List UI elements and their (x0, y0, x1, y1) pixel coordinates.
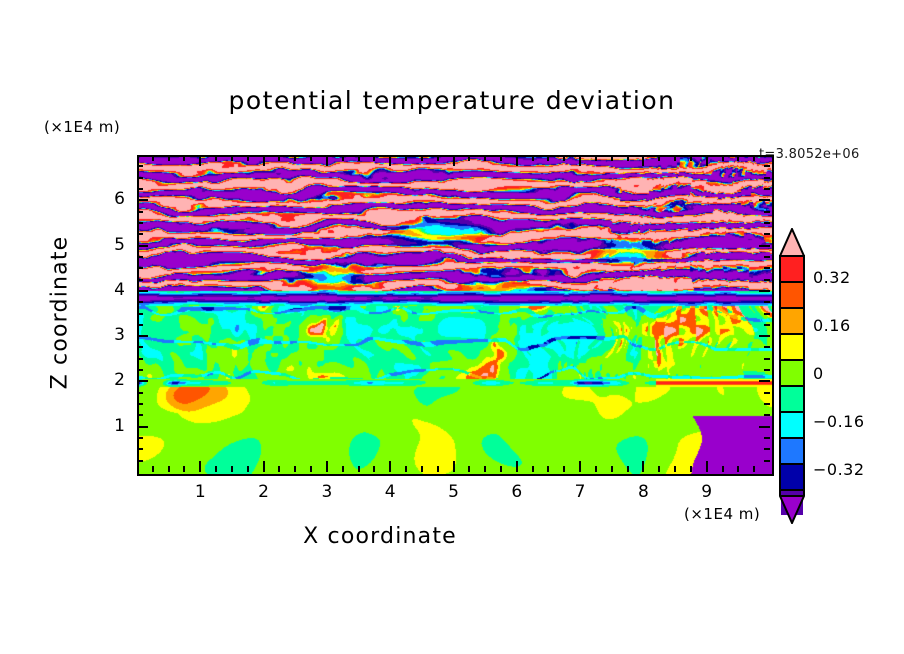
y-tick (137, 403, 143, 405)
x-tick (722, 155, 724, 161)
y-axis-unit-label: (×1E4 m) (44, 118, 120, 136)
timestamp-annotation: t=3.8052e+06 (759, 147, 860, 162)
y-tick (764, 346, 770, 348)
x-tick (294, 155, 296, 161)
y-tick (137, 313, 143, 315)
x-tick-label: 6 (502, 482, 532, 502)
y-tick-label: 3 (95, 325, 125, 345)
x-tick (358, 466, 360, 472)
x-tick (674, 466, 676, 472)
x-tick (278, 466, 280, 472)
x-tick (532, 155, 534, 161)
y-tick (764, 211, 770, 213)
colorbar-tick-label: −0.32 (813, 460, 865, 479)
y-tick (137, 233, 143, 235)
x-tick (152, 466, 154, 472)
y-tick (764, 301, 770, 303)
y-tick (764, 403, 770, 405)
x-tick (500, 155, 502, 161)
x-tick (658, 466, 660, 472)
x-tick (421, 155, 423, 161)
x-tick (468, 155, 470, 161)
x-tick (547, 155, 549, 161)
x-tick (753, 155, 755, 161)
x-tick (231, 155, 233, 161)
y-tick (764, 324, 770, 326)
y-tick (137, 460, 143, 462)
x-tick (753, 466, 755, 472)
x-tick (563, 466, 565, 472)
x-tick (627, 155, 629, 161)
y-tick (759, 290, 770, 292)
x-tick-label: 3 (312, 482, 342, 502)
y-tick-label: 6 (95, 189, 125, 209)
axis-tick-layer: 123456789123456 (137, 155, 770, 472)
x-tick (199, 155, 201, 166)
y-tick (764, 267, 770, 269)
x-tick (611, 466, 613, 472)
y-tick (137, 290, 148, 292)
y-tick (137, 211, 143, 213)
y-tick (137, 245, 148, 247)
x-tick-label: 7 (565, 482, 595, 502)
x-tick (183, 155, 185, 161)
y-tick (764, 177, 770, 179)
x-tick (500, 466, 502, 472)
y-tick (137, 188, 143, 190)
x-tick (373, 155, 375, 161)
y-tick (759, 199, 770, 201)
x-tick (152, 155, 154, 161)
y-tick (137, 392, 143, 394)
x-tick (310, 466, 312, 472)
x-tick (358, 155, 360, 161)
x-tick (405, 466, 407, 472)
x-tick (642, 461, 644, 472)
x-tick (263, 461, 265, 472)
x-tick (627, 466, 629, 472)
y-tick (137, 426, 148, 428)
y-tick (137, 256, 143, 258)
x-tick-label: 5 (439, 482, 469, 502)
y-tick (137, 437, 143, 439)
colorbar-tick-labels: 0.320.160−0.16−0.32 (779, 228, 899, 522)
x-tick (373, 466, 375, 472)
x-tick (516, 461, 518, 472)
y-tick (764, 222, 770, 224)
x-tick-label: 9 (692, 482, 722, 502)
x-tick (326, 461, 328, 472)
x-tick (310, 155, 312, 161)
y-tick (137, 369, 143, 371)
y-tick-label: 1 (95, 416, 125, 436)
x-tick (215, 466, 217, 472)
x-tick (595, 155, 597, 161)
x-tick (168, 466, 170, 472)
y-tick (137, 358, 143, 360)
x-tick (484, 466, 486, 472)
x-tick (563, 155, 565, 161)
x-tick (690, 155, 692, 161)
y-tick (764, 188, 770, 190)
x-tick (642, 155, 644, 166)
y-tick (137, 448, 143, 450)
x-tick (183, 466, 185, 472)
x-tick (468, 466, 470, 472)
x-tick-label: 8 (628, 482, 658, 502)
y-tick (759, 380, 770, 382)
x-axis-unit-label: (×1E4 m) (684, 505, 760, 523)
y-tick (764, 279, 770, 281)
y-tick (759, 335, 770, 337)
x-tick (389, 155, 391, 166)
y-tick (764, 392, 770, 394)
x-tick (247, 155, 249, 161)
y-tick (759, 245, 770, 247)
y-tick-label: 2 (95, 370, 125, 390)
y-tick (137, 301, 143, 303)
y-tick (137, 267, 143, 269)
x-tick (168, 155, 170, 161)
x-tick (579, 461, 581, 472)
y-tick (137, 177, 143, 179)
y-tick (137, 165, 143, 167)
x-tick (405, 155, 407, 161)
y-tick (764, 460, 770, 462)
x-tick (342, 155, 344, 161)
x-tick (278, 155, 280, 161)
y-tick-label: 4 (95, 280, 125, 300)
x-tick-label: 1 (185, 482, 215, 502)
x-tick (389, 461, 391, 472)
x-tick (706, 461, 708, 472)
x-tick (547, 466, 549, 472)
x-axis-title: X coordinate (0, 524, 760, 549)
page-title: potential temperature deviation (0, 86, 904, 115)
y-tick (137, 335, 148, 337)
y-tick (764, 165, 770, 167)
x-tick (706, 155, 708, 166)
x-tick (453, 155, 455, 166)
x-tick-label: 4 (375, 482, 405, 502)
x-tick (737, 155, 739, 161)
x-tick-label: 2 (249, 482, 279, 502)
x-tick (453, 461, 455, 472)
y-tick (137, 414, 143, 416)
x-tick (199, 461, 201, 472)
x-tick (263, 155, 265, 166)
y-tick (764, 256, 770, 258)
y-tick (137, 324, 143, 326)
y-tick (137, 199, 148, 201)
y-tick (759, 426, 770, 428)
x-tick (674, 155, 676, 161)
y-tick (764, 233, 770, 235)
x-tick (690, 466, 692, 472)
x-tick (342, 466, 344, 472)
x-tick (484, 155, 486, 161)
y-tick (764, 313, 770, 315)
colorbar-tick-label: 0.32 (813, 268, 851, 287)
x-tick (421, 466, 423, 472)
y-tick (764, 448, 770, 450)
x-tick (611, 155, 613, 161)
x-tick (247, 466, 249, 472)
x-tick (231, 466, 233, 472)
x-tick (532, 466, 534, 472)
y-tick (764, 369, 770, 371)
x-tick (722, 466, 724, 472)
y-tick-label: 5 (95, 235, 125, 255)
x-tick (326, 155, 328, 166)
y-tick (764, 414, 770, 416)
y-tick (764, 358, 770, 360)
y-tick (764, 437, 770, 439)
x-tick (437, 155, 439, 161)
y-axis-title: Z coordinate (48, 213, 73, 413)
x-tick (595, 466, 597, 472)
colorbar-tick-label: 0.16 (813, 316, 851, 335)
colorbar-tick-label: −0.16 (813, 412, 865, 431)
y-tick (137, 222, 143, 224)
colorbar-tick-label: 0 (813, 364, 824, 383)
x-tick (294, 466, 296, 472)
x-tick (737, 466, 739, 472)
x-tick (658, 155, 660, 161)
x-tick (215, 155, 217, 161)
y-tick (137, 279, 143, 281)
x-tick (579, 155, 581, 166)
y-tick (137, 380, 148, 382)
y-tick (137, 346, 143, 348)
x-tick (516, 155, 518, 166)
x-tick (437, 466, 439, 472)
